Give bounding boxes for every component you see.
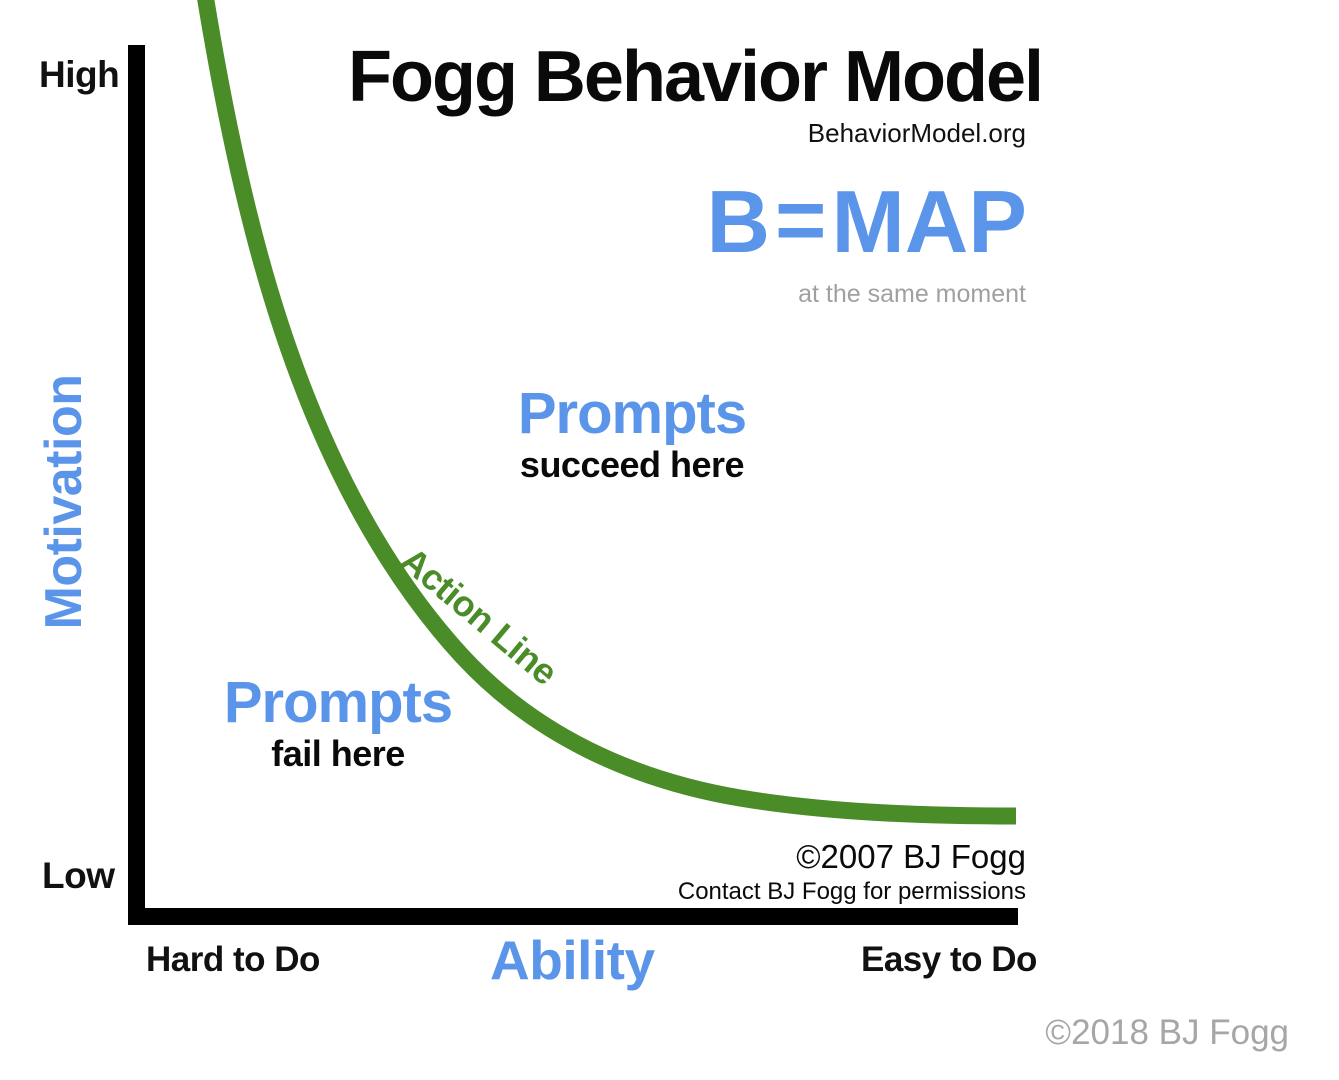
x-axis-hard-label: Hard to Do <box>146 940 320 980</box>
fogg-behavior-model-diagram: High Low Motivation Hard to Do Easy to D… <box>0 0 1339 1080</box>
zone-succeed-subtitle: succeed here <box>482 445 782 485</box>
bmap-formula-subtitle: at the same moment <box>798 280 1026 309</box>
x-axis-easy-label: Easy to Do <box>861 940 1037 980</box>
y-axis-high-label: High <box>39 54 119 96</box>
x-axis-line <box>128 908 1018 925</box>
permissions-note-label: Contact BJ Fogg for permissions <box>678 878 1026 906</box>
formula-behavior-term: B <box>706 172 770 271</box>
zone-succeed-title: Prompts <box>482 384 782 445</box>
site-url-label: BehaviorModel.org <box>808 118 1026 149</box>
bmap-formula: B=MAP <box>706 178 1027 266</box>
y-axis-title: Motivation <box>34 372 94 632</box>
formula-map-term: MAP <box>831 172 1027 271</box>
zone-fail-subtitle: fail here <box>188 734 488 774</box>
y-axis-line <box>128 45 145 925</box>
zone-fail-title: Prompts <box>188 673 488 734</box>
page-title: Fogg Behavior Model <box>348 36 1042 118</box>
zone-prompts-succeed: Prompts succeed here <box>482 384 782 484</box>
copyright-outer-label: ©2018 BJ Fogg <box>1045 1013 1289 1053</box>
x-axis-title: Ability <box>490 928 655 992</box>
copyright-inner-label: ©2007 BJ Fogg <box>796 838 1026 876</box>
zone-prompts-fail: Prompts fail here <box>188 673 488 773</box>
y-axis-low-label: Low <box>42 855 114 897</box>
formula-equals-sign: = <box>770 176 831 264</box>
